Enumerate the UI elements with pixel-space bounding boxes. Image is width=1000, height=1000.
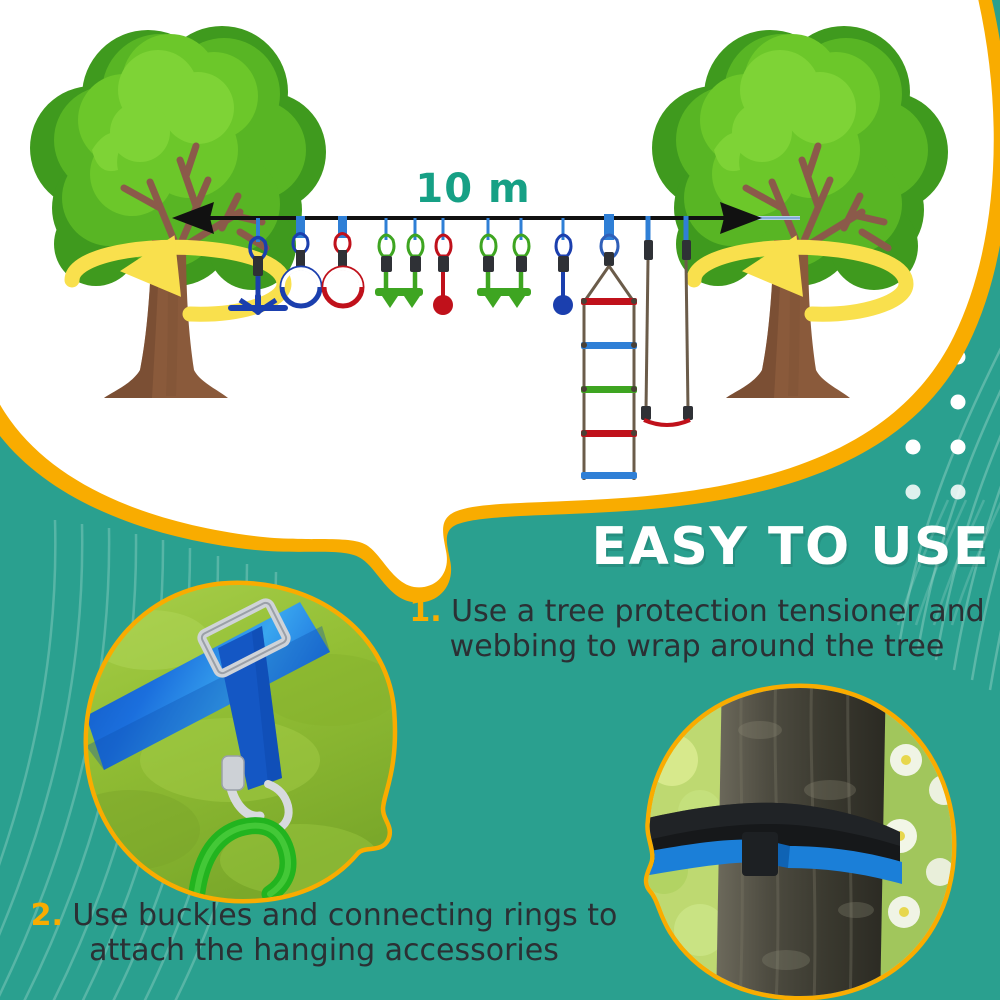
photo-tree-webbing — [0, 0, 1000, 1000]
step-2-body: Use buckles and connecting rings to atta… — [72, 898, 617, 968]
infographic-root: 10 m EASY TO USE 1. Use a tree protectio… — [0, 0, 1000, 1000]
page-title: EASY TO USE — [520, 521, 990, 573]
step-1-body: Use a tree protection tensioner and webb… — [450, 594, 985, 664]
step-1-text: 1. Use a tree protection tensioner and w… — [398, 594, 996, 664]
step-2-text: 2. Use buckles and connecting rings to a… — [24, 898, 624, 968]
dimension-label: 10 m — [383, 166, 563, 212]
step-2-number: 2. — [31, 898, 63, 933]
step-1-number: 1. — [409, 594, 441, 629]
